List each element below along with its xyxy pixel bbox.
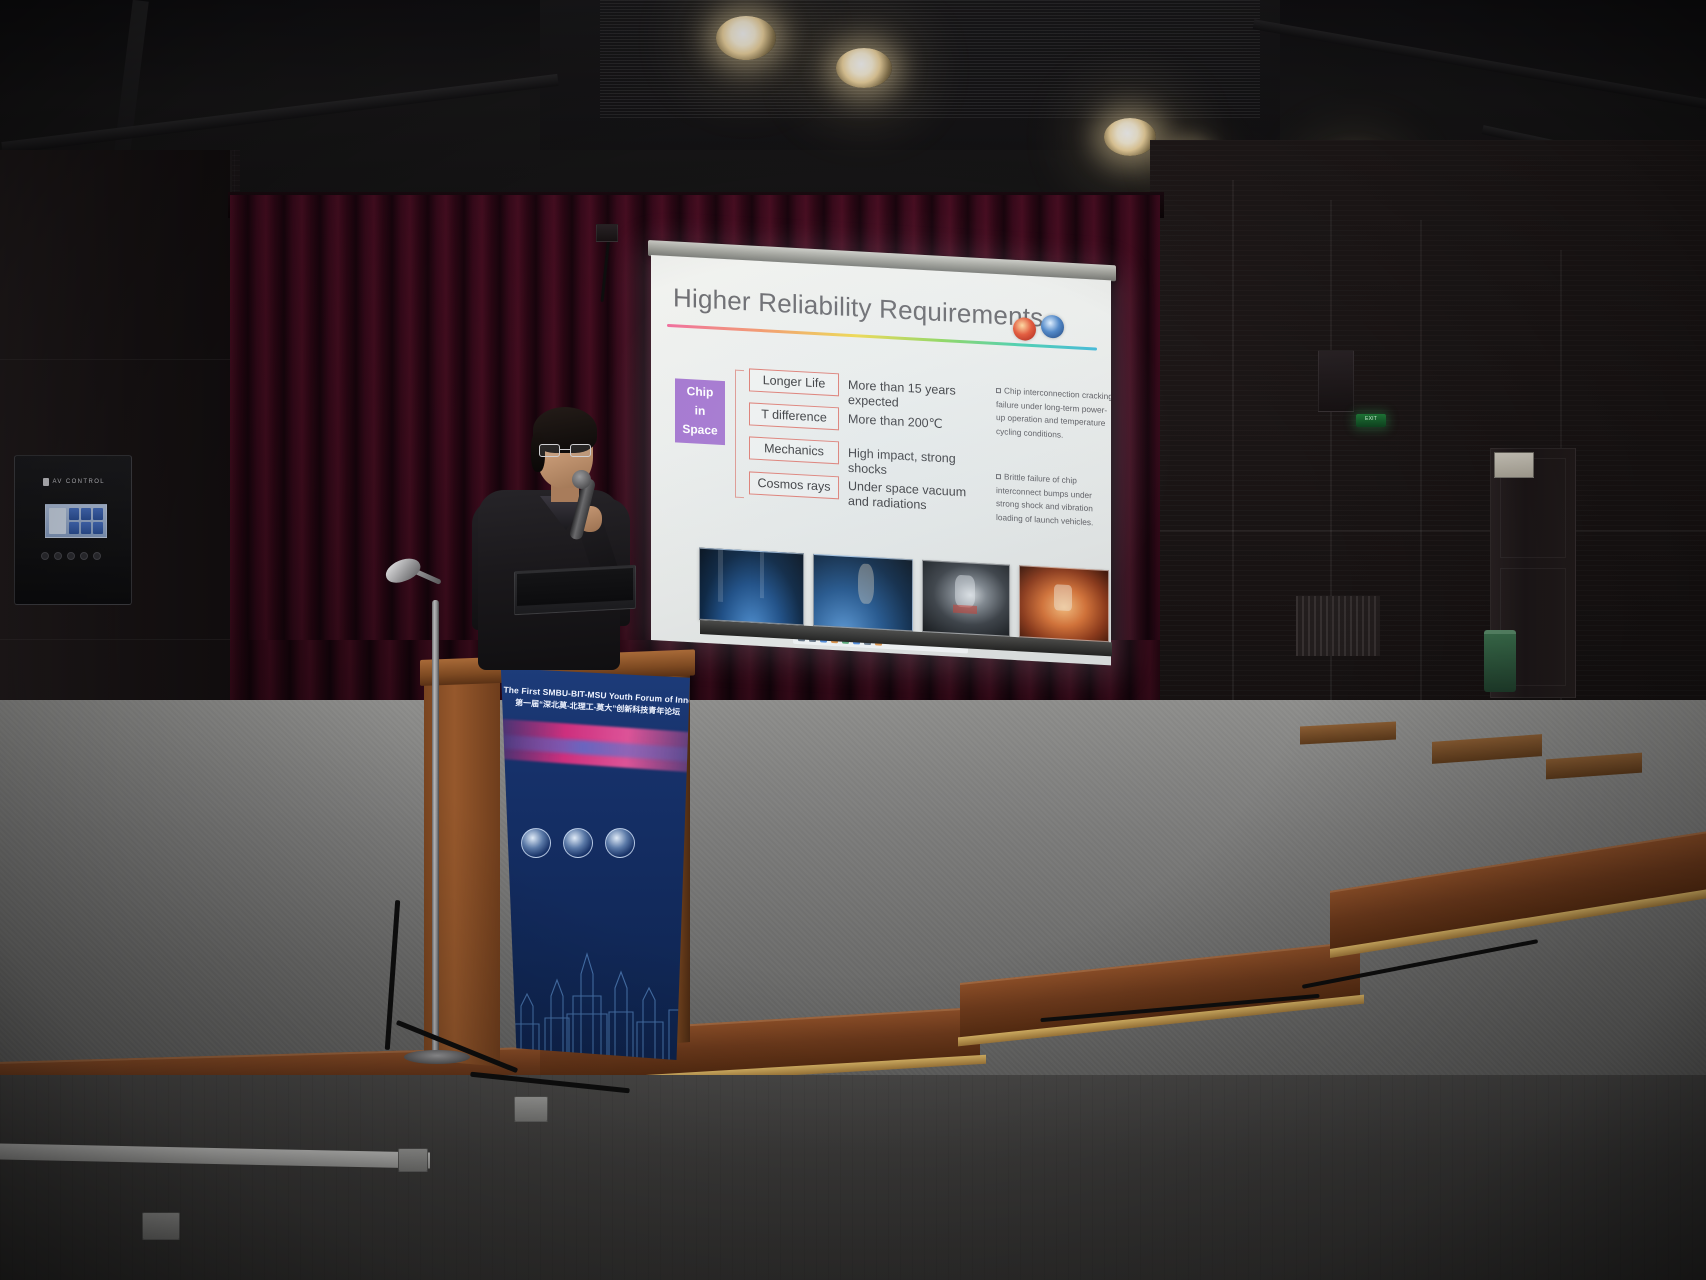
bit-logo-icon [563,828,593,858]
wall-seam [1150,530,1706,532]
projector-mount-bracket [596,224,618,242]
skyline-graphic [505,944,690,1060]
panel-key[interactable] [80,552,88,560]
exit-sign-label: EXIT [1365,416,1377,422]
panel-key[interactable] [41,552,49,560]
door-notice-sign [1494,452,1534,478]
touchscreen-button-grid[interactable] [69,508,103,534]
ceiling-downlight [836,48,892,88]
slide-title: Higher Reliability Requirements [673,282,1043,333]
handheld-microphone-head-icon [572,470,591,489]
requirement-label-3: Cosmos rays [749,471,839,499]
av-control-panel[interactable]: AV CONTROL [14,455,132,605]
wall-radiator [1296,596,1380,656]
ceiling-grille [600,0,1260,118]
presenter-laptop[interactable] [514,565,636,615]
touchscreen-button[interactable] [69,522,79,534]
glasses-lens-left [539,444,560,457]
left-wall-panel [0,150,232,360]
requirement-value-3: Under space vacuum and radiations [848,479,988,517]
podium-front-banner: The First SMBU-BIT-MSU Youth Forum of In… [497,668,690,1060]
slide-surface: Higher Reliability Requirements Chip in … [651,255,1111,665]
exit-sign: EXIT [1356,414,1386,427]
control-panel-brand-text: AV CONTROL [52,479,105,485]
glasses-bridge [560,449,570,450]
projection-screen: Higher Reliability Requirements Chip in … [651,255,1111,665]
touchscreen-sidebar[interactable] [49,508,66,534]
touchscreen-button[interactable] [81,508,91,520]
panel-key[interactable] [67,552,75,560]
bit-emblem-icon [1013,317,1036,341]
control-panel-brand: AV CONTROL [43,476,105,487]
requirement-label-2: Mechanics [749,436,839,464]
slide-thumbnail-0 [699,548,804,626]
laptop-screen [517,568,633,606]
chip-box-line-3: Space [675,419,725,441]
auditorium-floor [0,1075,1706,1280]
chip-in-space-box: Chip in Space [675,378,725,445]
touchscreen-button[interactable] [69,508,79,520]
requirement-value-1: More than 200℃ [848,412,988,435]
thumbnail-detail [1054,584,1072,611]
requirement-value-0: More than 15 years expected [848,378,988,416]
slide-thumbnail-3 [1019,565,1109,642]
microphone-stand-base [404,1050,470,1064]
presenter-glasses-icon [539,444,591,457]
microphone-stand-pole [432,600,439,1060]
thumbnail-detail [953,605,977,614]
msu-emblem-icon [1041,314,1064,338]
slide-bullet-text-1: Brittle failure of chip interconnect bum… [996,471,1093,526]
glasses-lens-right [570,444,591,457]
requirements-brace [735,370,744,498]
conference-hall-photo: EXIT Higher Reliability Requirements Chi… [0,0,1706,1280]
podium-university-logos [521,828,671,858]
ceiling-downlight [1104,118,1156,156]
thumbnail-detail [718,550,723,602]
slide-bullet-text-0: Chip interconnection cracking failure un… [996,385,1111,439]
smbu-logo-icon [521,828,551,858]
touchscreen-button[interactable] [81,522,91,534]
bullet-square-icon [996,388,1001,393]
floor-power-outlet[interactable] [398,1148,428,1172]
slide-bullet-0: Chip interconnection cracking failure un… [996,384,1111,444]
bullet-square-icon [996,474,1001,479]
floor-power-outlet[interactable] [142,1212,180,1240]
thumbnail-detail [858,563,874,604]
brand-mark-icon [43,478,49,486]
thumbnail-detail [760,552,764,598]
msu-logo-icon [605,828,635,858]
touchscreen-button[interactable] [93,508,103,520]
control-panel-keys[interactable] [41,552,111,560]
control-panel-touchscreen[interactable] [45,504,107,538]
requirement-label-1: T difference [749,402,839,430]
thumbnail-detail [955,575,975,608]
panel-key[interactable] [54,552,62,560]
slide-bullet-1: Brittle failure of chip interconnect bum… [996,470,1111,530]
podium-banner-text: The First SMBU-BIT-MSU Youth Forum of In… [502,685,690,719]
slide-thumbnail-2 [922,560,1010,637]
requirement-value-2: High impact, strong shocks [848,446,988,484]
slide-thumbnail-1 [813,554,913,632]
ceiling-downlight [716,16,776,60]
requirement-label-0: Longer Life [749,368,839,396]
wall-loudspeaker [1318,350,1354,412]
panel-key[interactable] [93,552,101,560]
touchscreen-button[interactable] [93,522,103,534]
trash-bin [1484,630,1516,692]
floor-power-outlet[interactable] [514,1096,548,1122]
